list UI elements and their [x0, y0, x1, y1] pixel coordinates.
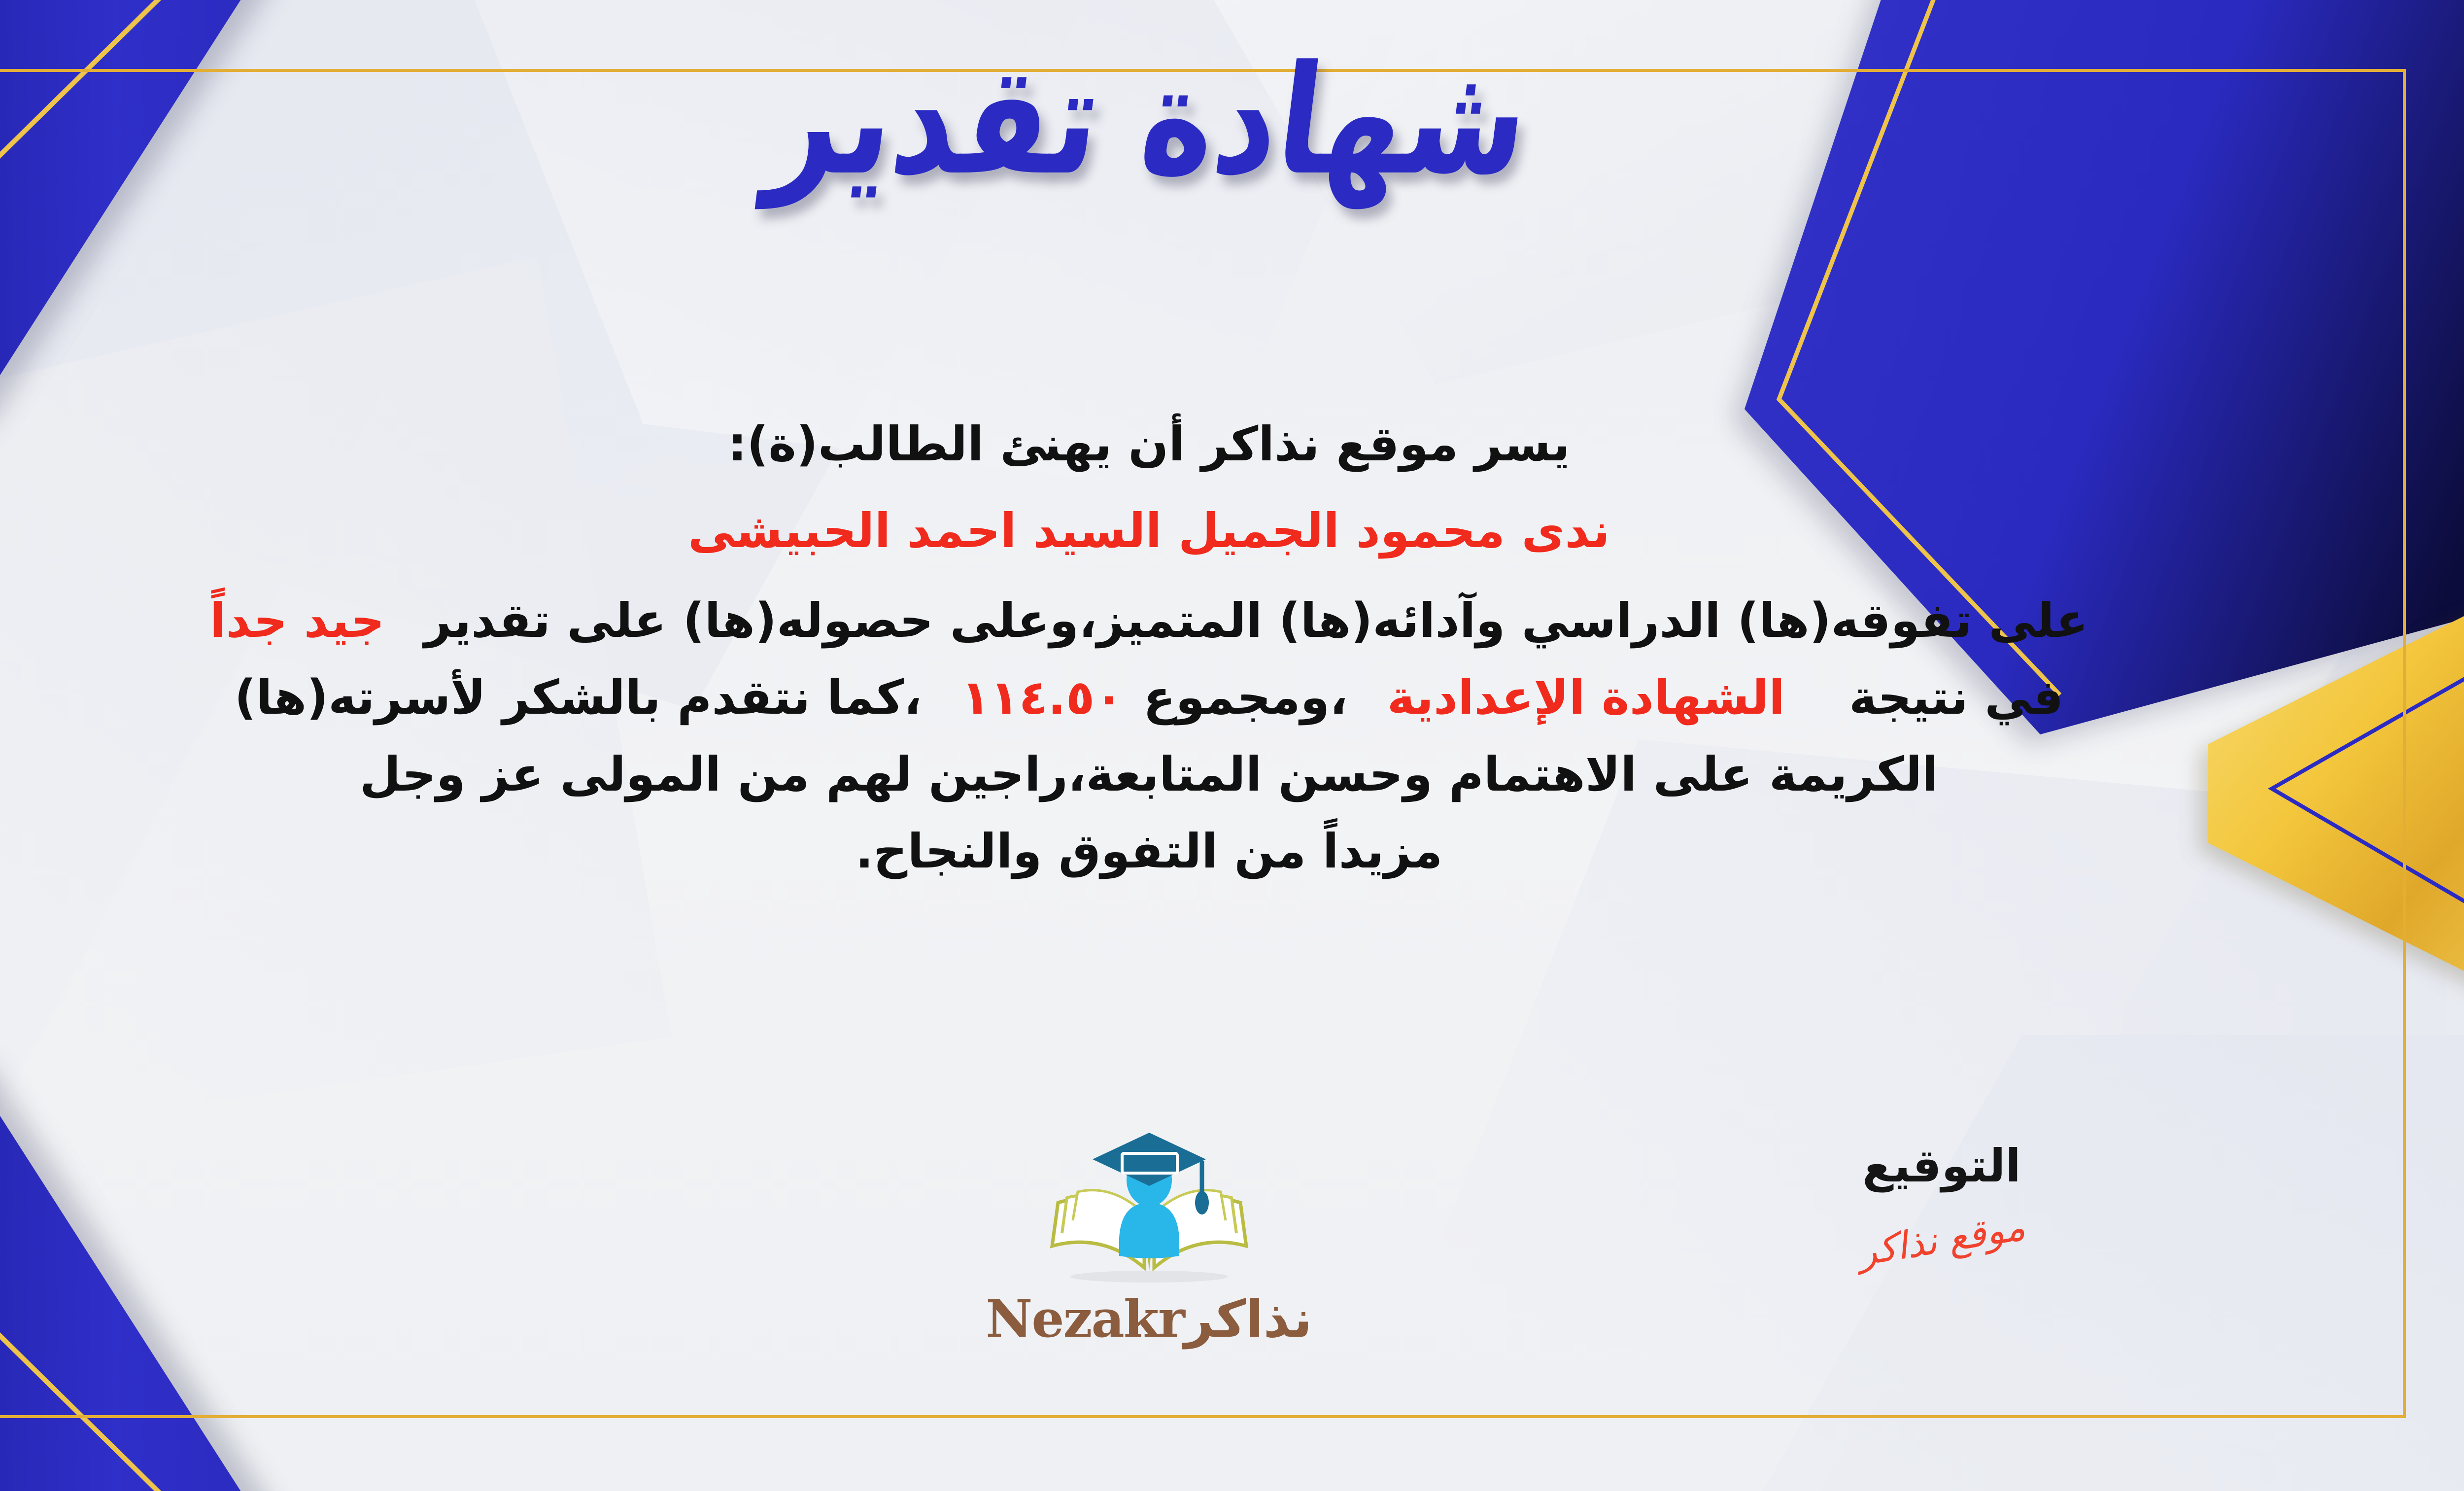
site-logo: Nezakrنذاكر — [962, 1129, 1336, 1349]
gratitude-line: الكريمة على الاهتمام وحسن المتابعة،راجين… — [0, 739, 2351, 809]
certificate-page: شهادة تقدير يسر موقع نذاكر أن يهنئ الطال… — [0, 0, 2464, 1491]
result-prefix: في نتيجة — [1849, 670, 2063, 725]
signature-area: التوقيع موقع نذاكر — [1804, 1144, 2080, 1261]
certificate-type: الشهادة الإعدادية — [1387, 670, 1785, 725]
signature-label: التوقيع — [1804, 1144, 2080, 1189]
total-value: ١١٤.٥٠ — [961, 670, 1123, 725]
total-label: ،ومجموع — [1143, 670, 1348, 725]
wish-line: مزيداً من التفوق والنجاح. — [0, 816, 2351, 886]
student-name: ندى محمود الجميل السيد احمد الحبيشى — [0, 496, 2351, 566]
result-line: في نتيجةالشهادة الإعدادية،ومجموع١١٤.٥٠،ك… — [0, 662, 2351, 732]
praise-prefix: على تفوقه(ها) الدراسي وآدائه(ها) المتميز… — [424, 593, 2088, 648]
intro-line: يسر موقع نذاكر أن يهنئ الطالب(ة): — [0, 409, 2351, 479]
thanks-text: ،كما نتقدم بالشكر لأسرته(ها) — [235, 670, 922, 725]
grade-value: جيد جداً — [210, 593, 385, 648]
logo-name-latin: Nezakr — [986, 1288, 1184, 1349]
certificate-title-text: شهادة تقدير — [761, 46, 1537, 196]
page-title: شهادة تقدير — [0, 59, 2464, 246]
graduate-book-icon — [1043, 1129, 1255, 1291]
certificate-body: يسر موقع نذاكر أن يهنئ الطالب(ة): ندى مح… — [0, 409, 2351, 893]
logo-name-arabic: نذاكر — [1184, 1289, 1312, 1349]
praise-line: على تفوقه(ها) الدراسي وآدائه(ها) المتميز… — [0, 586, 2351, 656]
logo-wordmark: Nezakrنذاكر — [962, 1288, 1336, 1349]
